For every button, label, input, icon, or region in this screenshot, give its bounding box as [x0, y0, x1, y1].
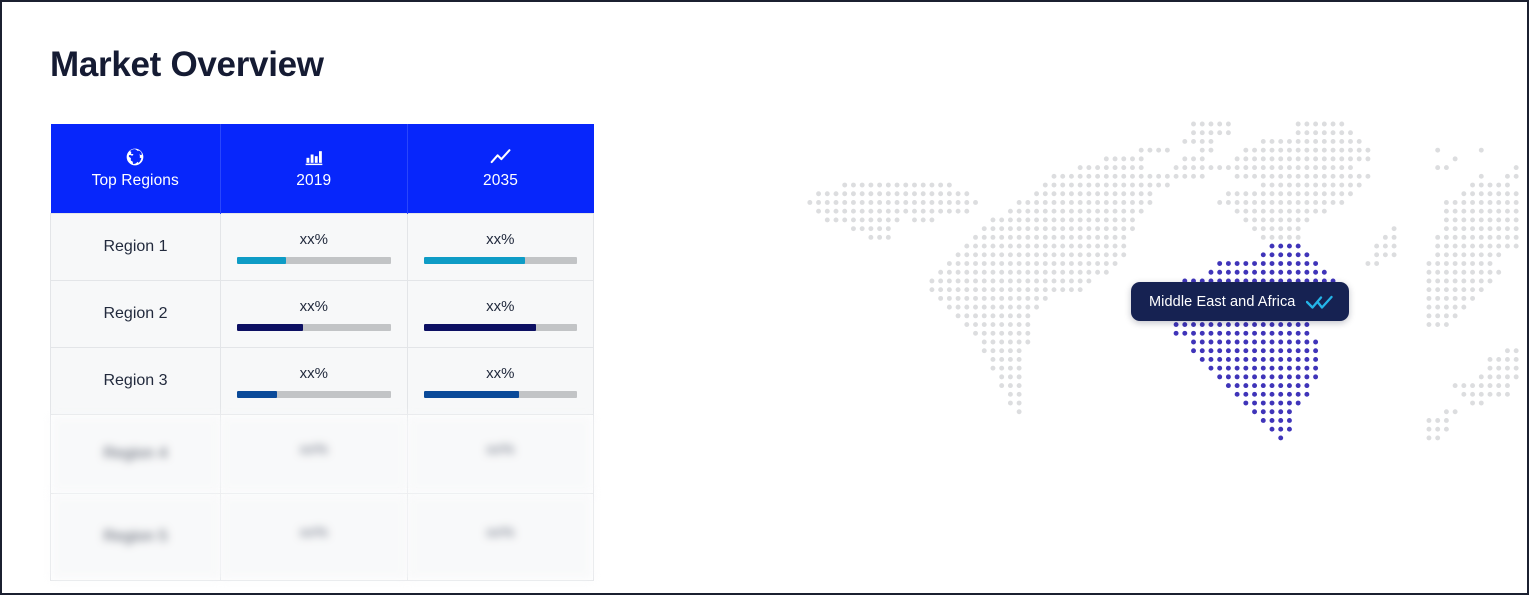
- metric-value: xx%: [237, 298, 391, 315]
- column-header-2035[interactable]: 2035: [407, 124, 594, 214]
- metric-cell-2035: xx%: [407, 415, 594, 494]
- bar-chart-icon: [304, 147, 324, 167]
- page-title: Market Overview: [50, 46, 324, 85]
- progress-bar-track: [237, 257, 391, 264]
- metric-cell-2019: xx%: [221, 348, 408, 415]
- region-name: Region 2: [51, 305, 220, 323]
- metric-value: xx%: [237, 231, 391, 248]
- metric-cell-2035: xx%: [407, 214, 594, 281]
- region-name: Region 1: [51, 238, 220, 256]
- metric-value: xx%: [237, 441, 391, 458]
- progress-bar-track: [237, 324, 391, 331]
- region-name-cell: Region 1: [51, 214, 221, 281]
- table-row[interactable]: Region 5xx%xx%: [51, 494, 594, 581]
- table-row[interactable]: Region 4xx%xx%: [51, 415, 594, 494]
- slide-canvas: Market Overview: [0, 0, 1529, 595]
- progress-bar-track: [237, 391, 391, 398]
- progress-bar-fill: [424, 391, 519, 398]
- table-row[interactable]: Region 2xx%xx%: [51, 281, 594, 348]
- table-row[interactable]: Region 3xx%xx%: [51, 348, 594, 415]
- metric-value: xx%: [237, 524, 391, 541]
- column-header-top-regions[interactable]: Top Regions: [51, 124, 221, 214]
- column-header-2019[interactable]: 2019: [221, 124, 408, 214]
- metric-cell-2035: xx%: [407, 348, 594, 415]
- progress-bar-track: [424, 257, 578, 264]
- metric-cell-2019: xx%: [221, 214, 408, 281]
- metric-value: xx%: [424, 524, 578, 541]
- region-name-cell: Region 4: [51, 415, 221, 494]
- metric-cell-2019: xx%: [221, 281, 408, 348]
- market-overview-table: Top Regions: [50, 124, 594, 581]
- metric-cell-2019: xx%: [221, 415, 408, 494]
- region-name-cell: Region 5: [51, 494, 221, 581]
- progress-bar-fill: [424, 257, 525, 264]
- column-header-label: 2019: [296, 172, 331, 190]
- region-name: Region 3: [51, 372, 220, 390]
- double-check-icon: [1306, 294, 1333, 310]
- region-name: Region 4: [51, 445, 220, 463]
- metric-value: xx%: [424, 298, 578, 315]
- map-tooltip-label: Middle East and Africa: [1149, 294, 1295, 310]
- metric-value: xx%: [424, 231, 578, 248]
- globe-icon: [125, 147, 145, 167]
- table-row[interactable]: Region 1xx%xx%: [51, 214, 594, 281]
- progress-bar-track: [424, 391, 578, 398]
- progress-bar-fill: [424, 324, 536, 331]
- column-header-label: Top Regions: [92, 172, 179, 190]
- region-name-cell: Region 3: [51, 348, 221, 415]
- region-name: Region 5: [51, 528, 220, 546]
- metric-cell-2035: xx%: [407, 281, 594, 348]
- metric-cell-2019: xx%: [221, 494, 408, 581]
- metric-cell-2035: xx%: [407, 494, 594, 581]
- region-name-cell: Region 2: [51, 281, 221, 348]
- progress-bar-track: [424, 324, 578, 331]
- progress-bar-fill: [237, 324, 303, 331]
- trending-up-icon: [490, 147, 512, 167]
- progress-bar-fill: [237, 257, 286, 264]
- metric-value: xx%: [237, 365, 391, 382]
- metric-value: xx%: [424, 365, 578, 382]
- progress-bar-fill: [237, 391, 277, 398]
- table-header-row: Top Regions: [51, 124, 594, 214]
- world-map[interactable]: [614, 120, 1519, 550]
- map-tooltip[interactable]: Middle East and Africa: [1131, 282, 1349, 321]
- metric-value: xx%: [424, 441, 578, 458]
- column-header-label: 2035: [483, 172, 518, 190]
- world-map-dots: [614, 120, 1519, 550]
